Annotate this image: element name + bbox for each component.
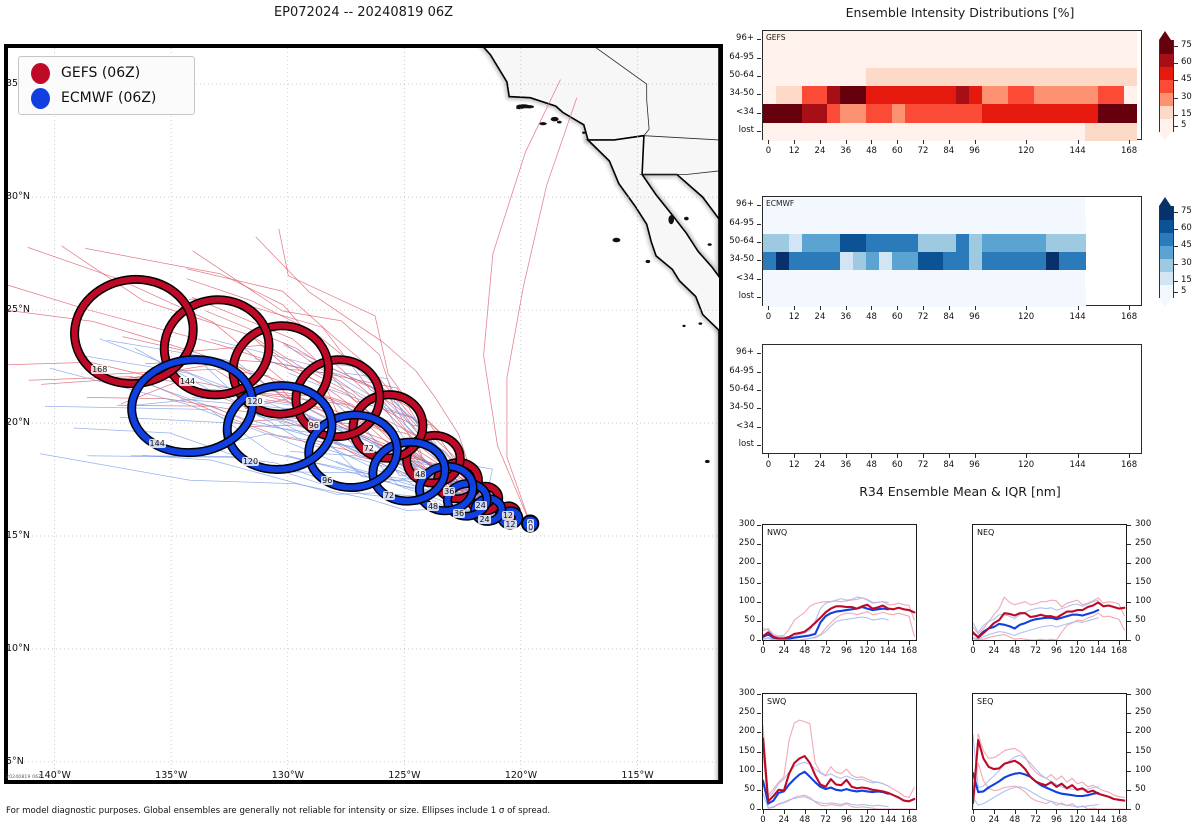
heatmap-cell [918, 104, 931, 122]
r34-panel-seq[interactable]: SEQ [972, 693, 1127, 810]
colorbar-segment [1160, 206, 1173, 220]
heatmap-cell [879, 252, 892, 270]
r34-x-tick [805, 641, 806, 645]
heatmap-cell [1085, 123, 1098, 141]
heatmap-cell [956, 123, 969, 141]
heatmap-cell [866, 86, 879, 104]
colorbar-min-arrow [1159, 298, 1171, 307]
r34-y-tick-label: 250 [730, 538, 755, 548]
intensity-x-tick-label: 36 [837, 312, 855, 322]
r34-x-tick [846, 641, 847, 645]
r34-y-tick-label: 300 [1135, 519, 1160, 529]
r34-y-tick [1127, 602, 1131, 603]
heatmap-cell [1034, 252, 1047, 270]
intensity-x-tick-label: 168 [1120, 460, 1138, 470]
r34-x-tick-label: 72 [1026, 646, 1046, 656]
heatmap-cell [879, 86, 892, 104]
heatmap-cell [969, 86, 982, 104]
r34-panel-nwq[interactable]: NWQ [762, 524, 917, 641]
colorbar-tick-label: 75 [1181, 40, 1192, 50]
heatmap-cell [802, 86, 815, 104]
heatmap-cell [930, 86, 943, 104]
intensity-y-tick [757, 76, 761, 77]
r34-x-tick-label: 48 [1005, 815, 1025, 825]
intensity-x-tick-label: 168 [1120, 312, 1138, 322]
r34-x-tick-label: 144 [878, 646, 898, 656]
intensity-x-tick [794, 306, 795, 310]
r34-plot-canvas [763, 694, 916, 809]
heatmap-cell [1072, 86, 1085, 104]
intensity-x-tick-label: 60 [888, 312, 906, 322]
heatmap-cell [1034, 68, 1047, 86]
intensity-y-tick-label: <34 [706, 273, 754, 283]
intensity-y-tick-label: 64-95 [706, 218, 754, 228]
intensity-y-tick [757, 260, 761, 261]
heatmap-cell [943, 123, 956, 141]
r34-y-tick [1127, 713, 1131, 714]
heatmap-cell [866, 68, 879, 86]
heatmap-cell [1098, 86, 1111, 104]
r34-x-tick-label: 120 [857, 815, 877, 825]
heatmap-cell [763, 252, 776, 270]
r34-y-tick-label: 300 [730, 688, 755, 698]
r34-quadrant-label: NWQ [767, 528, 787, 537]
lon-tick-label: 125°W [388, 770, 420, 781]
r34-quadrant-label: SWQ [767, 697, 786, 706]
heatmap-cell [1008, 123, 1021, 141]
heatmap-cell [763, 104, 776, 122]
colorbar-segment [1160, 93, 1173, 107]
r34-panel-neq[interactable]: NEQ [972, 524, 1127, 641]
heatmap-cell [840, 252, 853, 270]
heatmap-cell [969, 68, 982, 86]
r34-y-tick [1127, 640, 1131, 641]
colorbar-tick [1173, 80, 1178, 81]
intensity-x-tick-label: 24 [811, 146, 829, 156]
heatmap-cell [969, 215, 982, 233]
r34-x-tick-label: 120 [1067, 646, 1087, 656]
intensity-panel-gefs[interactable]: GEFS [762, 30, 1142, 140]
r34-y-tick [757, 583, 761, 584]
heatmap-cell [995, 215, 1008, 233]
heatmap-cell [892, 234, 905, 252]
r34-x-tick-label: 24 [774, 646, 794, 656]
intensity-x-tick [768, 140, 769, 144]
heatmap-cell [1034, 123, 1047, 141]
r34-x-tick-label: 72 [816, 646, 836, 656]
r34-x-tick [763, 810, 764, 814]
heatmap-cell [879, 123, 892, 141]
heatmap-cell [853, 123, 866, 141]
r34-y-tick [1127, 544, 1131, 545]
intensity-y-tick [757, 390, 761, 391]
heatmap-cell [1059, 104, 1072, 122]
heatmap-cell [1072, 234, 1085, 252]
colorbar-tick [1173, 229, 1178, 230]
r34-y-tick [1127, 525, 1131, 526]
ellipse-hour-label: 36 [443, 487, 455, 496]
intensity-x-tick [846, 140, 847, 144]
r34-y-tick-label: 50 [730, 615, 755, 625]
heatmap-cell [956, 104, 969, 122]
heatmap-cell [1059, 252, 1072, 270]
intensity-x-tick-label: 72 [914, 312, 932, 322]
heatmap-cell [918, 86, 931, 104]
heatmap-cell [1046, 234, 1059, 252]
r34-y-tick [1127, 563, 1131, 564]
ellipse-hour-label: 0 [527, 523, 534, 532]
r34-y-tick-label: 0 [1135, 803, 1160, 813]
heatmap-cell [763, 86, 776, 104]
heatmap-cell [956, 68, 969, 86]
heatmap-cell [892, 252, 905, 270]
intensity-x-tick [949, 140, 950, 144]
r34-y-tick-label: 0 [1135, 634, 1160, 644]
r34-plot-canvas [973, 525, 1126, 640]
colorbar-tick-label: 45 [1181, 240, 1192, 250]
heatmap-cell [1098, 104, 1111, 122]
r34-x-tick [909, 641, 910, 645]
intensity-x-tick-label: 72 [914, 146, 932, 156]
r34-x-tick [1098, 641, 1099, 645]
r34-y-tick-label: 300 [730, 519, 755, 529]
colorbar-tick-label: 5 [1181, 120, 1186, 130]
intensity-x-tick-label: 96 [966, 460, 984, 470]
r34-x-tick [826, 810, 827, 814]
heatmap-cell [1059, 86, 1072, 104]
r34-y-tick-label: 250 [1135, 538, 1160, 548]
r34-y-tick [757, 809, 761, 810]
heatmap-cell [969, 123, 982, 141]
intensity-y-tick [757, 205, 761, 206]
heatmap-cell [1098, 68, 1111, 86]
legend-item-gefs: GEFS (06Z) [31, 62, 140, 84]
ellipse-hour-label: 72 [363, 444, 375, 453]
heatmap-cell [1034, 215, 1047, 233]
heatmap-cell [956, 252, 969, 270]
intensity-y-tick-label: <34 [706, 107, 754, 117]
heatmap-cell [789, 252, 802, 270]
heatmap-cell [853, 104, 866, 122]
r34-y-tick [1127, 732, 1131, 733]
map-title: EP072024 -- 20240819 06Z [4, 5, 723, 20]
heatmap-cell [892, 123, 905, 141]
heatmap-cell [815, 104, 828, 122]
intensity-x-tick-label: 120 [1017, 146, 1035, 156]
heatmap-cell [1008, 234, 1021, 252]
heatmap-cell [1034, 86, 1047, 104]
r34-x-tick [1098, 810, 1099, 814]
intensity-y-tick-label: 34-50 [706, 88, 754, 98]
intensity-panel-empty[interactable] [762, 344, 1142, 454]
r34-x-tick [826, 641, 827, 645]
intensity-section-title: Ensemble Intensity Distributions [%] [740, 5, 1180, 20]
r34-x-tick [1036, 641, 1037, 645]
colorbar-tick-label: 30 [1181, 92, 1192, 102]
heatmap-cell [802, 104, 815, 122]
heatmap-cell [905, 252, 918, 270]
r34-x-tick [846, 810, 847, 814]
map-watermark: 20240819 06Z [6, 775, 42, 780]
intensity-y-tick-label: 96+ [706, 347, 754, 357]
heatmap-cell [1008, 68, 1021, 86]
r34-x-tick [1056, 810, 1057, 814]
heatmap-cell [1072, 68, 1085, 86]
r34-quadrant-label: NEQ [977, 528, 994, 537]
heatmap-cell [1111, 86, 1124, 104]
r34-x-tick-label: 144 [1088, 815, 1108, 825]
intensity-y-tick [757, 242, 761, 243]
colorbar-segment [1160, 53, 1173, 67]
intensity-x-tick [1129, 454, 1130, 458]
r34-x-tick-label: 144 [1088, 646, 1108, 656]
r34-x-tick-label: 72 [1026, 815, 1046, 825]
colorbar-max-arrow [1159, 31, 1171, 40]
r34-x-tick [994, 641, 995, 645]
r34-plot-canvas [763, 525, 916, 640]
r34-x-tick-label: 0 [753, 646, 773, 656]
r34-x-tick-label: 96 [1046, 646, 1066, 656]
lat-tick-label: 15°N [6, 530, 30, 541]
heatmap-cell [1085, 68, 1098, 86]
colorbar-segment [1160, 106, 1173, 120]
heatmap-cell [892, 104, 905, 122]
intensity-y-tick [757, 408, 761, 409]
forecast-track-map[interactable]: GEFS (06Z) ECMWF (06Z) 01224364872961201… [4, 44, 723, 784]
legend-item-ecmwf: ECMWF (06Z) [31, 87, 156, 109]
colorbar-tick-label: 60 [1181, 57, 1192, 67]
r34-y-tick [757, 602, 761, 603]
heatmap-cell [1046, 252, 1059, 270]
intensity-x-tick-label: 12 [785, 312, 803, 322]
heatmap-cell [995, 86, 1008, 104]
ellipse-hour-label: 144 [149, 439, 166, 448]
heatmap-cell [1021, 86, 1034, 104]
ellipse-hour-label: 12 [504, 520, 516, 529]
intensity-x-tick [1026, 306, 1027, 310]
ellipse-hour-label: 72 [383, 491, 395, 500]
heatmap-cell [1008, 252, 1021, 270]
heatmap-cell [1034, 234, 1047, 252]
r34-y-tick [757, 563, 761, 564]
intensity-x-tick [975, 454, 976, 458]
intensity-x-tick-label: 48 [862, 312, 880, 322]
heatmap-cell [1046, 104, 1059, 122]
intensity-x-tick-label: 12 [785, 460, 803, 470]
r34-x-tick-label: 24 [774, 815, 794, 825]
r34-x-tick-label: 0 [753, 815, 773, 825]
r34-x-tick [909, 810, 910, 814]
r34-x-tick-label: 168 [1109, 815, 1129, 825]
r34-x-tick-label: 0 [963, 646, 983, 656]
intensity-x-tick [897, 140, 898, 144]
colorbar-tick-label: 60 [1181, 223, 1192, 233]
heatmap-cell [802, 234, 815, 252]
heatmap-cell [982, 215, 995, 233]
r34-x-tick [1077, 641, 1078, 645]
intensity-x-tick-label: 96 [966, 312, 984, 322]
intensity-y-tick-label: 34-50 [706, 254, 754, 264]
intensity-x-tick-label: 84 [940, 460, 958, 470]
r34-y-tick-label: 50 [730, 784, 755, 794]
intensity-x-tick [1129, 306, 1130, 310]
r34-x-tick [1056, 641, 1057, 645]
heatmap-cell [840, 86, 853, 104]
heatmap-cell [1111, 123, 1124, 141]
intensity-y-tick-label: 96+ [706, 199, 754, 209]
r34-y-tick-label: 300 [1135, 688, 1160, 698]
r34-x-tick [994, 810, 995, 814]
heatmap-cell [905, 123, 918, 141]
heatmap-cell [905, 104, 918, 122]
intensity-x-tick-label: 0 [759, 146, 777, 156]
r34-y-tick [757, 752, 761, 753]
heatmap-cell [982, 86, 995, 104]
heatmap-cell [789, 86, 802, 104]
colorbar-tick [1173, 281, 1178, 282]
r34-quadrant-label: SEQ [977, 697, 993, 706]
heatmap-cell [815, 234, 828, 252]
colorbar-segment [1160, 272, 1173, 286]
intensity-x-tick-label: 12 [785, 146, 803, 156]
ellipse-hour-label: 144 [179, 377, 196, 386]
heatmap-cell [1072, 104, 1085, 122]
colorbar-tick-label: 30 [1181, 258, 1192, 268]
intensity-x-tick [975, 306, 976, 310]
heatmap-cell [763, 68, 776, 86]
r34-x-tick [888, 641, 889, 645]
r34-panel-swq[interactable]: SWQ [762, 693, 917, 810]
heatmap-cell [866, 123, 879, 141]
lon-tick-label: 120°W [505, 770, 537, 781]
heatmap-cell [827, 104, 840, 122]
intensity-x-tick-label: 120 [1017, 460, 1035, 470]
intensity-x-tick-label: 36 [837, 460, 855, 470]
r34-x-tick-label: 120 [1067, 815, 1087, 825]
r34-x-tick-label: 48 [795, 815, 815, 825]
r34-y-tick-label: 0 [730, 803, 755, 813]
r34-x-tick-label: 96 [836, 815, 856, 825]
lon-tick-label: 135°W [155, 770, 187, 781]
r34-y-tick-label: 150 [1135, 577, 1160, 587]
r34-y-tick-label: 150 [1135, 746, 1160, 756]
intensity-colorbar [1159, 40, 1174, 132]
intensity-x-tick-label: 60 [888, 460, 906, 470]
colorbar-tick [1173, 63, 1178, 64]
colorbar-segment [1160, 285, 1173, 299]
r34-x-tick [973, 810, 974, 814]
r34-y-tick [1127, 771, 1131, 772]
heatmap-cell [918, 68, 931, 86]
r34-x-tick-label: 24 [984, 815, 1004, 825]
heatmap-cell [905, 86, 918, 104]
colorbar-tick [1173, 212, 1178, 213]
intensity-colorbar [1159, 206, 1174, 298]
r34-x-tick-label: 120 [857, 646, 877, 656]
r34-plot-canvas [973, 694, 1126, 809]
ellipse-hour-label: 120 [242, 457, 259, 466]
r34-x-tick-label: 168 [899, 646, 919, 656]
heatmap-cell [1008, 215, 1021, 233]
intensity-y-tick-label: 34-50 [706, 402, 754, 412]
r34-y-tick-label: 0 [730, 634, 755, 644]
r34-x-tick [784, 810, 785, 814]
r34-y-tick-label: 200 [1135, 726, 1160, 736]
heatmap-cell [789, 234, 802, 252]
intensity-x-tick-label: 84 [940, 312, 958, 322]
ellipse-hour-label: 96 [321, 476, 333, 485]
heatmap-cell [995, 68, 1008, 86]
heatmap-cell [1034, 104, 1047, 122]
r34-y-tick [757, 525, 761, 526]
r34-y-tick-label: 200 [730, 726, 755, 736]
heatmap-cell [995, 234, 1008, 252]
colorbar-tick-label: 75 [1181, 206, 1192, 216]
colorbar-segment [1160, 245, 1173, 259]
intensity-x-tick [1078, 140, 1079, 144]
heatmap-cell [1111, 104, 1124, 122]
legend-label-ecmwf: ECMWF (06Z) [61, 90, 156, 106]
lat-tick-label: 5°N [6, 756, 24, 767]
r34-y-tick [1127, 621, 1131, 622]
heatmap-cell [995, 123, 1008, 141]
heatmap-cell [969, 252, 982, 270]
heatmap-cell [1046, 86, 1059, 104]
intensity-x-tick-label: 60 [888, 146, 906, 156]
r34-x-tick [867, 810, 868, 814]
intensity-x-tick [975, 140, 976, 144]
intensity-x-tick-label: 24 [811, 312, 829, 322]
intensity-y-tick [757, 353, 761, 354]
r34-y-tick-label: 100 [1135, 765, 1160, 775]
heatmap-cell [1021, 123, 1034, 141]
r34-y-tick-label: 100 [730, 596, 755, 606]
intensity-x-tick [923, 454, 924, 458]
colorbar-segment [1160, 66, 1173, 80]
intensity-x-tick-label: 24 [811, 460, 829, 470]
legend-label-gefs: GEFS (06Z) [61, 65, 140, 81]
heatmap-cell [956, 234, 969, 252]
r34-x-tick [867, 641, 868, 645]
intensity-panel-ecmwf[interactable]: ECMWF [762, 196, 1142, 306]
red-circle-marker [31, 63, 50, 84]
r34-y-tick-label: 100 [730, 765, 755, 775]
intensity-x-tick-label: 144 [1069, 312, 1087, 322]
intensity-x-tick [949, 306, 950, 310]
r34-y-tick [1127, 790, 1131, 791]
heatmap-cell [866, 104, 879, 122]
ellipse-hour-label: 48 [427, 502, 439, 511]
heatmap-cell [1059, 123, 1072, 141]
intensity-x-tick [1078, 454, 1079, 458]
heatmap-cell [840, 104, 853, 122]
heatmap-cell [1111, 68, 1124, 86]
blue-circle-marker [31, 88, 50, 109]
heatmap-cell [982, 252, 995, 270]
r34-y-tick-label: 250 [1135, 707, 1160, 717]
intensity-x-tick [820, 140, 821, 144]
heatmap-cell [815, 68, 828, 86]
heatmap-cell [1072, 123, 1085, 141]
intensity-x-tick-label: 144 [1069, 146, 1087, 156]
intensity-x-tick [871, 140, 872, 144]
r34-x-tick-label: 72 [816, 815, 836, 825]
heatmap-cell [1021, 234, 1034, 252]
heatmap-cell [840, 234, 853, 252]
r34-x-tick-label: 168 [1109, 646, 1129, 656]
heatmap-cell [982, 68, 995, 86]
intensity-x-tick-label: 84 [940, 146, 958, 156]
